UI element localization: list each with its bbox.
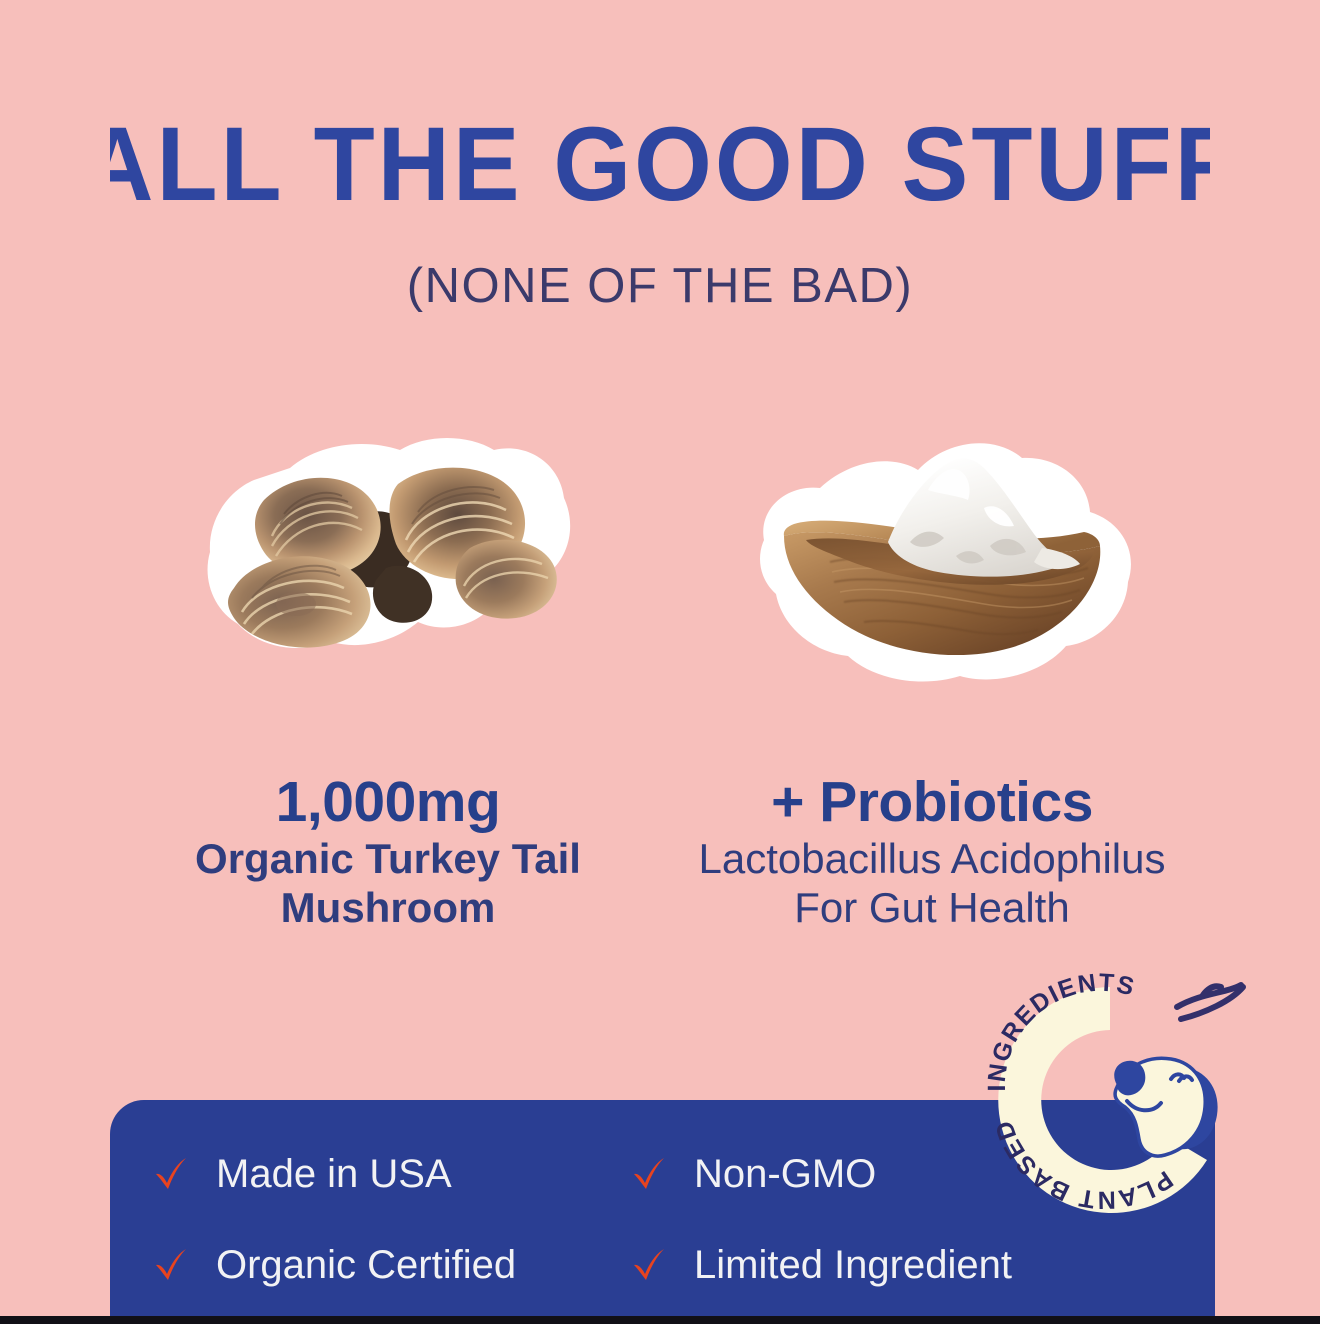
claim-label: Organic Certified (216, 1245, 516, 1285)
product-desc-line-1: Organic Turkey Tail (118, 834, 658, 883)
claim-item: Limited Ingredient (630, 1245, 1012, 1285)
claim-item: Organic Certified (152, 1245, 516, 1285)
check-icon (630, 1246, 668, 1284)
check-icon (152, 1246, 190, 1284)
claim-label: Limited Ingredient (694, 1245, 1012, 1285)
claim-label: Made in USA (216, 1154, 452, 1194)
product-desc-line-2: Mushroom (118, 883, 658, 932)
claim-label: Non-GMO (694, 1154, 876, 1194)
product-desc-line-2: For Gut Health (652, 883, 1212, 932)
check-icon (630, 1155, 668, 1193)
page-subtitle: (NONE OF THE BAD) (0, 262, 1320, 311)
product-caption-mushroom: 1,000mg Organic Turkey Tail Mushroom (118, 772, 658, 932)
svg-text:ALL THE GOOD STUFF: ALL THE GOOD STUFF (110, 112, 1210, 220)
claim-item: Non-GMO (630, 1154, 876, 1194)
probiotic-powder-bowl-image (722, 430, 1162, 698)
bottom-edge-strip (0, 1316, 1320, 1324)
product-caption-probiotics: + Probiotics Lactobacillus Acidophilus F… (652, 772, 1212, 932)
product-desc-line-1: Lactobacillus Acidophilus (652, 834, 1212, 883)
turkey-tail-mushroom-image (168, 428, 588, 700)
check-icon (152, 1155, 190, 1193)
dog-head-icon (1114, 1058, 1217, 1156)
page-title: ALL THE GOOD STUFF (0, 112, 1320, 220)
tail-swoosh-icon (1177, 985, 1243, 1019)
product-amount: 1,000mg (118, 772, 658, 834)
plant-based-ingredients-badge: INGREDIENTS PLANT BASED (965, 955, 1255, 1230)
product-infographic: ALL THE GOOD STUFF (NONE OF THE BAD) (0, 0, 1320, 1324)
claim-item: Made in USA (152, 1154, 452, 1194)
product-amount: + Probiotics (652, 772, 1212, 834)
